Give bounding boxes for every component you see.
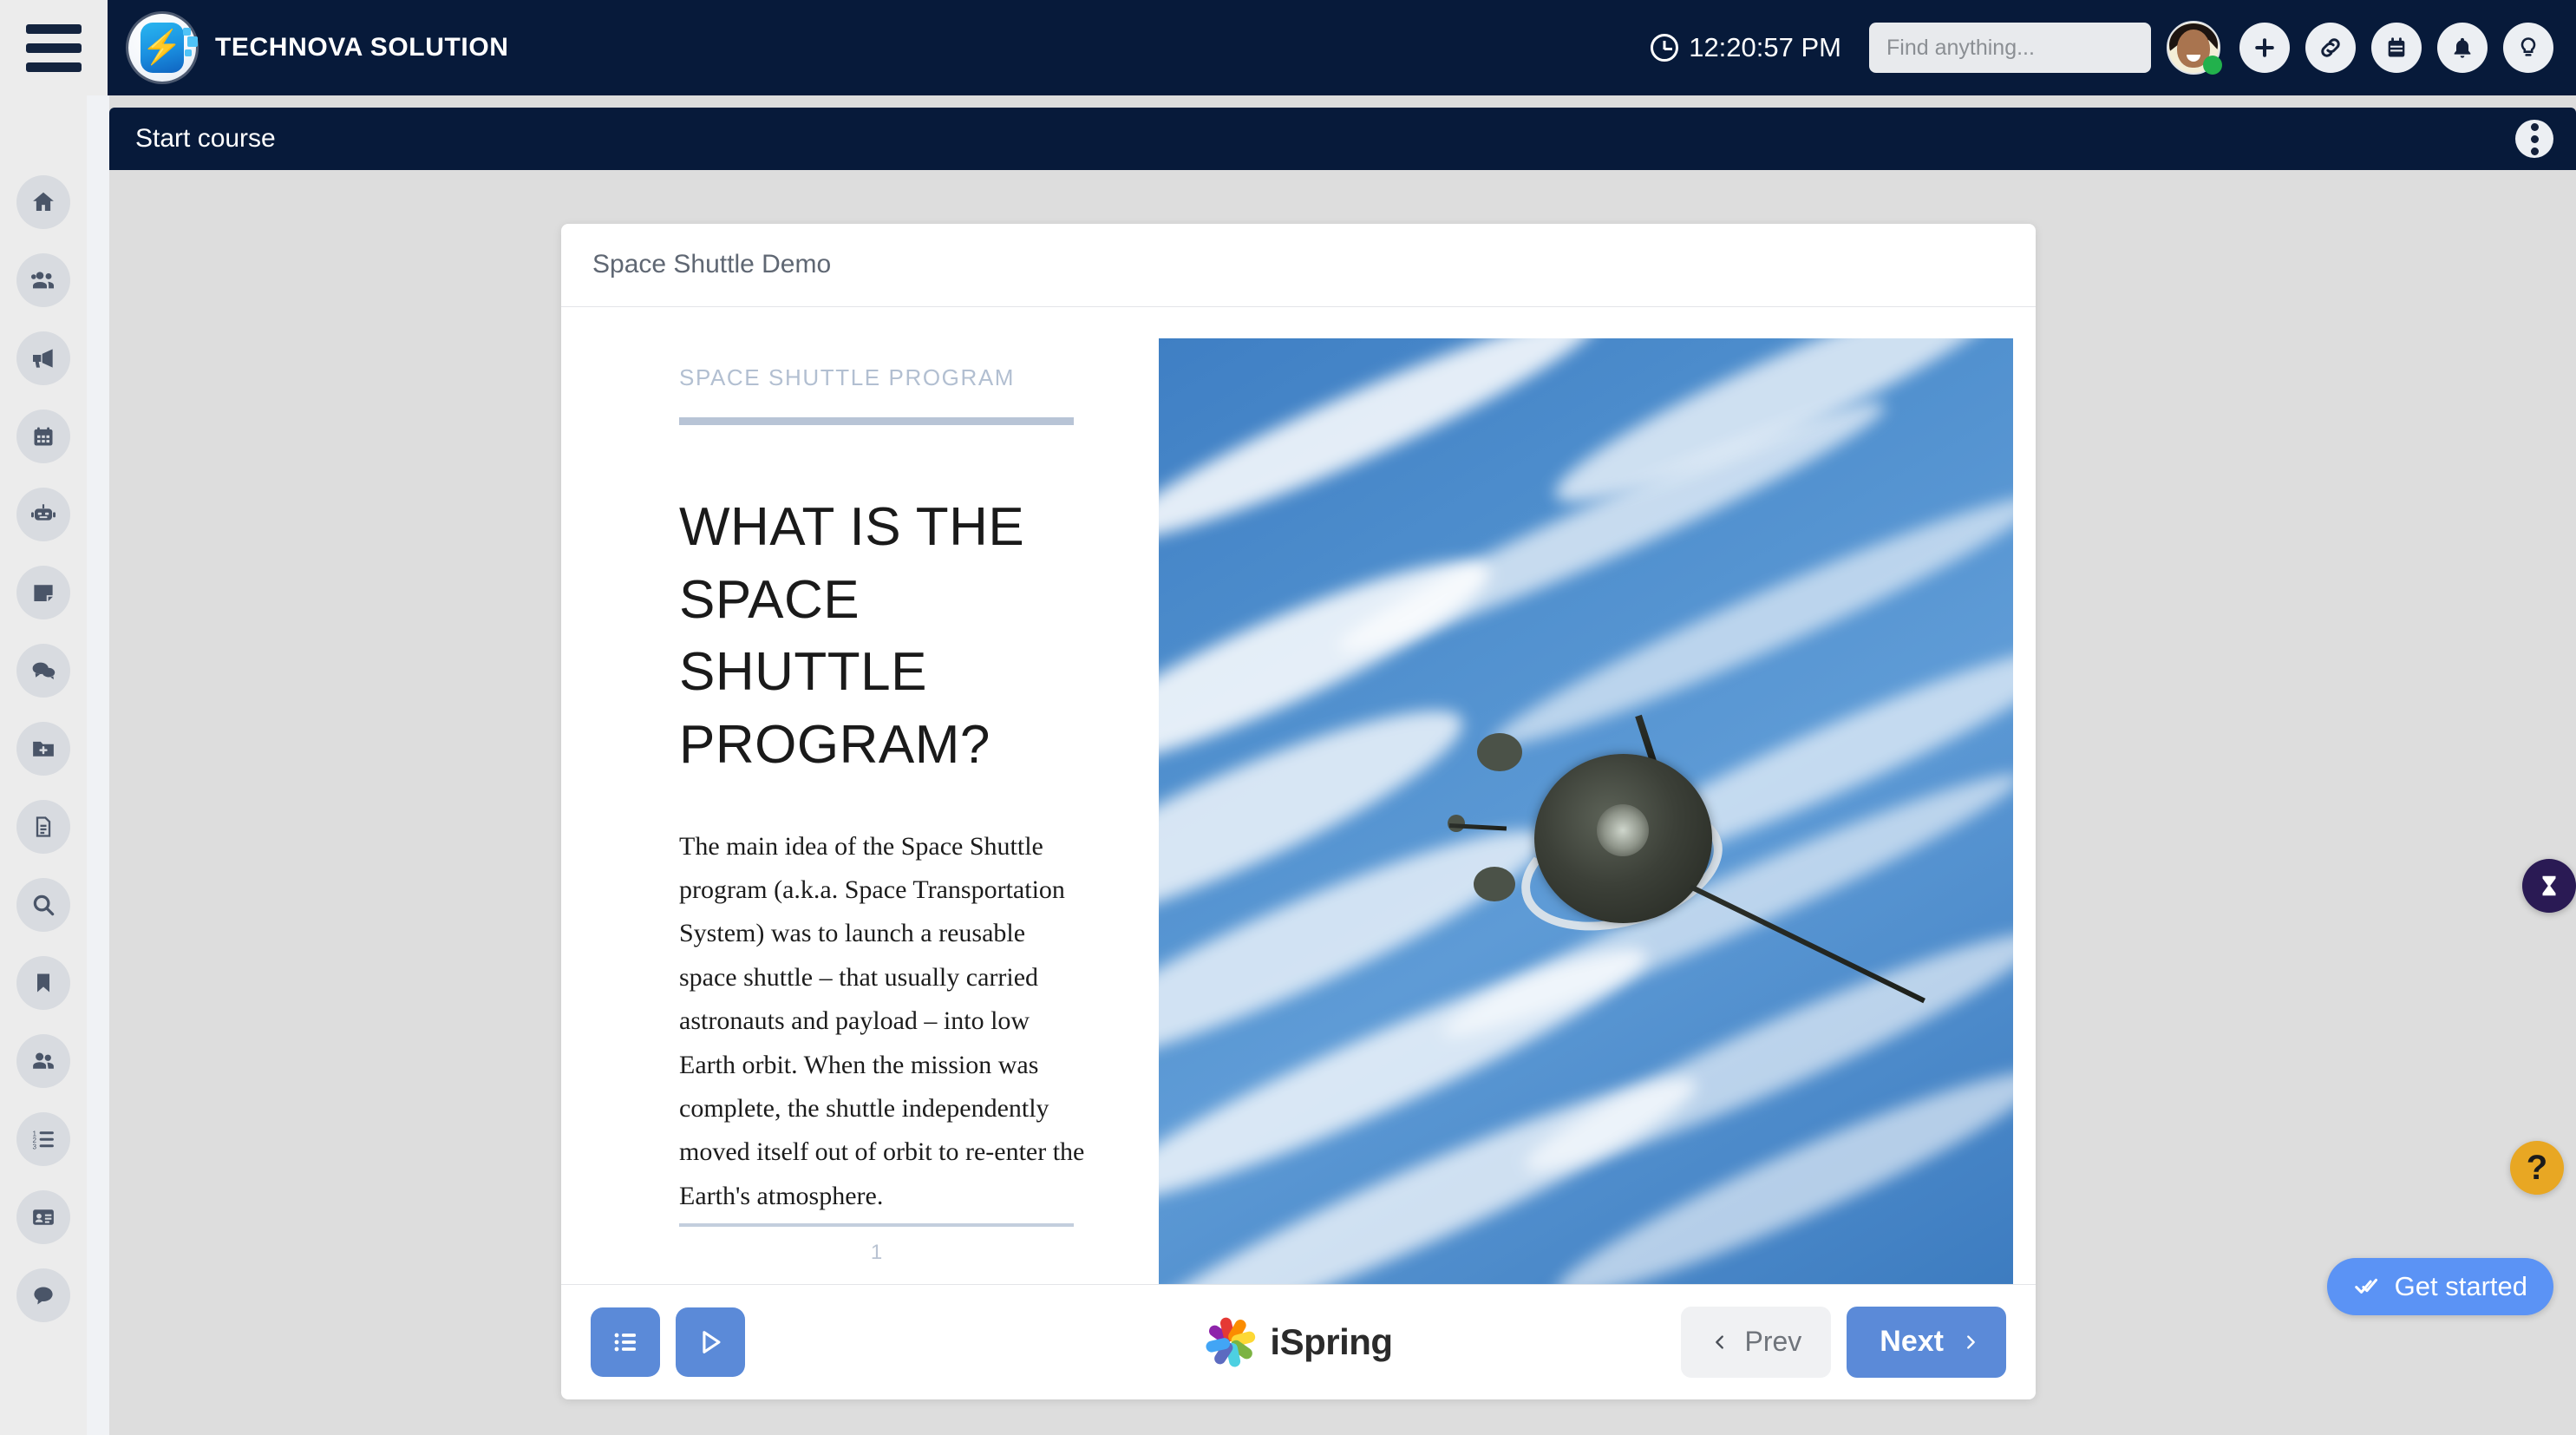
slide-heading: WHAT IS THE SPACE SHUTTLE PROGRAM?	[679, 491, 1087, 782]
ispring-flower-logo	[1204, 1315, 1258, 1369]
left-sidebar: 1 2 3	[0, 95, 87, 1435]
bolt-glyph: ⚡	[141, 31, 182, 64]
hamburger-bar	[26, 24, 82, 34]
brand-name: TECHNOVA SOLUTION	[215, 33, 509, 62]
prev-button[interactable]: Prev	[1681, 1307, 1832, 1378]
logo-pixel	[185, 49, 192, 56]
kebab-dot	[2531, 135, 2539, 143]
sidebar-divider-strip	[87, 95, 109, 1435]
top-navigation-bar: ⚡ TECHNOVA SOLUTION 12:20:57 PM	[0, 0, 2576, 95]
prev-label: Prev	[1745, 1326, 1802, 1358]
main-content-area: Start course Space Shuttle Demo SPACE SH…	[109, 95, 2576, 1435]
help-label: ?	[2527, 1149, 2547, 1188]
get-started-label: Get started	[2395, 1271, 2527, 1302]
slide-footer: 1	[679, 1223, 1087, 1284]
slide-title-bar: Space Shuttle Demo	[561, 224, 2036, 307]
clock-display: 12:20:57 PM	[1651, 32, 1841, 63]
global-search	[1869, 23, 2151, 73]
course-slide-card: Space Shuttle Demo SPACE SHUTTLE PROGRAM…	[561, 224, 2036, 1399]
sidebar-item-directory[interactable]	[16, 1190, 70, 1244]
footer-divider	[679, 1223, 1074, 1227]
sidebar-item-bot[interactable]	[16, 488, 70, 541]
sidebar-item-people[interactable]	[16, 1034, 70, 1088]
slide-title: Space Shuttle Demo	[592, 250, 831, 279]
sidebar-item-messages[interactable]	[16, 1268, 70, 1322]
chevron-right-icon	[1961, 1328, 1980, 1356]
slide-navigation: Prev Next	[1681, 1307, 2007, 1378]
chevron-left-icon	[1710, 1328, 1729, 1356]
calendar-icon[interactable]	[2371, 23, 2422, 73]
topbar-actions: 12:20:57 PM	[1651, 0, 2553, 95]
course-header-bar: Start course	[109, 108, 2576, 170]
plus-icon[interactable]	[2239, 23, 2290, 73]
hamburger-bar	[26, 43, 82, 53]
next-label: Next	[1880, 1325, 1944, 1359]
sidebar-item-home[interactable]	[16, 175, 70, 229]
spacecraft-over-earth-photo	[1159, 338, 2013, 1284]
sidebar-item-calendar[interactable]	[16, 410, 70, 463]
search-input[interactable]	[1869, 23, 2151, 73]
ispring-logo-text: iSpring	[1270, 1321, 1392, 1363]
hamburger-bar	[26, 62, 82, 72]
slide-page-number: 1	[679, 1241, 1074, 1265]
slide-eyebrow: SPACE SHUTTLE PROGRAM	[679, 364, 1087, 391]
play-icon[interactable]	[676, 1307, 745, 1377]
clock-icon	[1651, 34, 1678, 62]
avatar[interactable]	[2167, 21, 2220, 75]
sidebar-item-new-folder[interactable]	[16, 722, 70, 776]
slide-text-column: SPACE SHUTTLE PROGRAM WHAT IS THE SPACE …	[584, 330, 1139, 1284]
player-control-bar: iSpring Prev Next	[561, 1284, 2036, 1399]
kebab-dot	[2531, 147, 2539, 155]
bell-icon[interactable]	[2437, 23, 2488, 73]
brand-block[interactable]: ⚡ TECHNOVA SOLUTION	[108, 0, 509, 95]
current-time: 12:20:57 PM	[1689, 32, 1841, 63]
kebab-dot	[2531, 123, 2539, 131]
help-button[interactable]: ?	[2510, 1141, 2564, 1195]
sidebar-item-search[interactable]	[16, 878, 70, 932]
sidebar-item-documents[interactable]	[16, 800, 70, 854]
slide-canvas: SPACE SHUTTLE PROGRAM WHAT IS THE SPACE …	[561, 307, 2036, 1284]
sidebar-item-groups[interactable]	[16, 253, 70, 307]
sidebar-item-chats[interactable]	[16, 644, 70, 698]
logo-pixel	[183, 28, 191, 36]
kebab-menu-icon[interactable]	[2515, 120, 2553, 158]
sidebar-item-notes[interactable]	[16, 566, 70, 619]
lightbulb-icon[interactable]	[2503, 23, 2553, 73]
hourglass-icon[interactable]	[2522, 859, 2576, 913]
get-started-button[interactable]: Get started	[2327, 1258, 2553, 1315]
online-status-dot	[2203, 56, 2222, 75]
link-icon[interactable]	[2305, 23, 2356, 73]
outline-list-icon[interactable]	[591, 1307, 660, 1377]
page-title: Start course	[135, 124, 276, 154]
ispring-branding: iSpring	[1204, 1315, 1392, 1369]
slide-body-text: The main idea of the Space Shuttle progr…	[679, 825, 1087, 1219]
double-check-icon	[2353, 1274, 2381, 1299]
lightning-bolt-logo: ⚡	[128, 14, 196, 82]
hamburger-menu-button[interactable]	[0, 0, 108, 95]
slide-image-column	[1139, 330, 2013, 1284]
logo-pixel	[187, 36, 198, 47]
sidebar-item-announcements[interactable]	[16, 331, 70, 385]
sidebar-item-lists[interactable]: 1 2 3	[16, 1112, 70, 1166]
next-button[interactable]: Next	[1847, 1307, 2006, 1378]
sidebar-item-bookmarks[interactable]	[16, 956, 70, 1010]
eyebrow-divider	[679, 417, 1074, 425]
svg-text:3: 3	[33, 1143, 37, 1150]
